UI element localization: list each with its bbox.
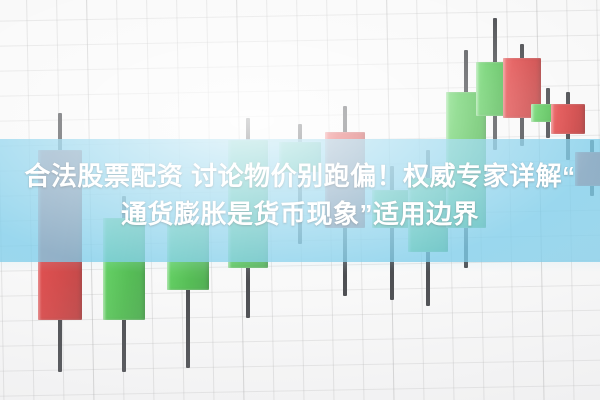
candle-7 bbox=[372, 166, 412, 300]
candle-5 bbox=[279, 124, 321, 244]
candle-body bbox=[575, 152, 600, 186]
candle-8 bbox=[408, 150, 448, 306]
candle-body bbox=[38, 150, 82, 320]
banner-image: 合法股票配资 讨论物价别跑偏！权威专家详解“ 通货膨胀是货币现象”适用边界 bbox=[0, 0, 600, 400]
candle-1 bbox=[38, 113, 82, 372]
candle-body bbox=[167, 224, 209, 290]
candle-body bbox=[408, 178, 448, 252]
candle-body bbox=[103, 218, 145, 320]
candle-14 bbox=[575, 140, 600, 196]
candle-6 bbox=[325, 106, 365, 296]
candle-body bbox=[228, 140, 268, 268]
candle-body bbox=[551, 104, 585, 134]
candle-2 bbox=[103, 196, 145, 372]
candle-body bbox=[325, 132, 365, 228]
candle-4 bbox=[228, 118, 268, 318]
candle-wick bbox=[390, 166, 394, 300]
candle-3 bbox=[167, 200, 209, 368]
candle-body bbox=[279, 142, 321, 172]
candle-body bbox=[372, 190, 412, 228]
